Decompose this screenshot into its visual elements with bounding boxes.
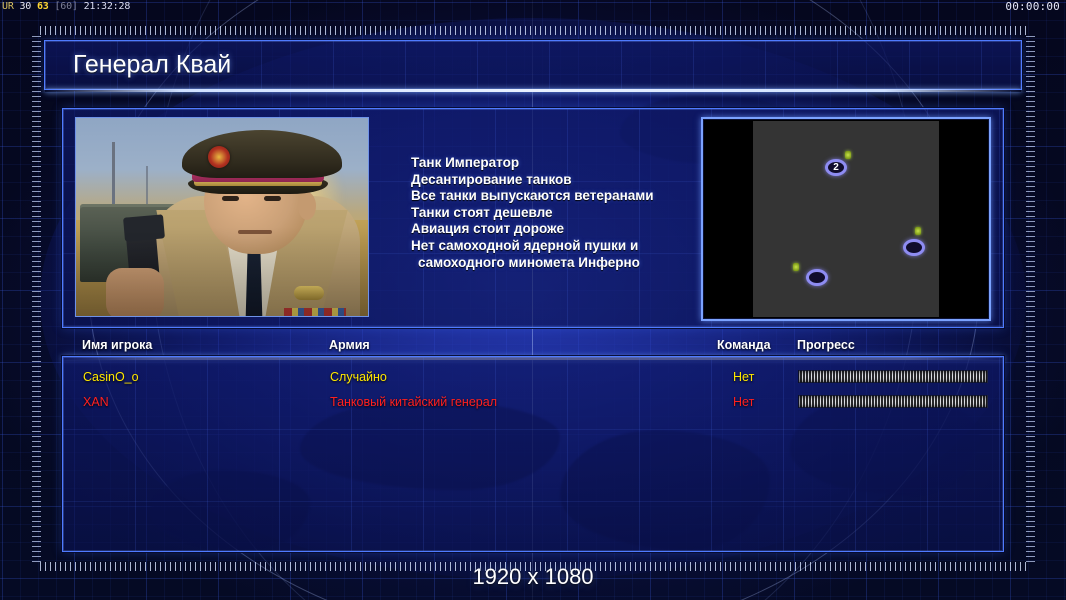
- minimap-supply-dock: [845, 151, 851, 159]
- general-description-line: Нет самоходной ядерной пушки и: [411, 238, 741, 255]
- general-info-panel: Танк ИмператорДесантирование танковВсе т…: [62, 108, 1004, 328]
- header-army: Армия: [329, 338, 370, 352]
- ruler-bottom: [40, 562, 1026, 571]
- player-army: Случайно: [330, 365, 387, 389]
- match-timer: 00:00:00: [1005, 1, 1060, 13]
- general-description-line: Авиация стоит дороже: [411, 221, 741, 238]
- hud-overlay: UR 30 63 [60] 21:32:28 00:00:00: [0, 0, 1066, 15]
- minimap-supply-dock: [793, 263, 799, 271]
- general-description-line: Десантирование танков: [411, 172, 741, 189]
- fps-cap: 63: [37, 1, 49, 12]
- header-player-name: Имя игрока: [82, 338, 152, 352]
- general-description-line: Танки стоят дешевле: [411, 205, 741, 222]
- player-progress-bar: [798, 395, 988, 408]
- table-row[interactable]: XANТанковый китайский генералНет: [63, 390, 1003, 414]
- minimap-start-position[interactable]: [903, 239, 925, 256]
- hud-clock: 21:32:28: [84, 1, 131, 12]
- player-table-header: Имя игрока Армия Команда Прогресс: [62, 338, 1004, 358]
- page-title: Генерал Квай: [73, 51, 231, 80]
- minimap[interactable]: 2: [705, 121, 987, 317]
- fps-label: UR: [2, 1, 14, 12]
- player-progress-bar: [798, 370, 988, 383]
- minimap-start-position[interactable]: 2: [825, 159, 847, 176]
- fps-target: [60]: [54, 1, 77, 12]
- portrait-vignette: [76, 118, 368, 316]
- player-name: CasinO_o: [83, 365, 139, 389]
- ruler-top: [40, 26, 1026, 35]
- minimap-frame: 2: [701, 117, 991, 321]
- general-description-line: самоходного миномета Инферно: [411, 255, 741, 272]
- player-table-panel: CasinO_oСлучайноНетXANТанковый китайский…: [62, 356, 1004, 552]
- player-team: Нет: [733, 390, 754, 414]
- player-name: XAN: [83, 390, 109, 414]
- title-panel: Генерал Квай: [44, 40, 1022, 90]
- minimap-supply-dock: [915, 227, 921, 235]
- fps-value: 30: [19, 1, 31, 12]
- ruler-left: [32, 36, 41, 564]
- header-progress: Прогресс: [797, 338, 855, 352]
- ruler-right: [1026, 36, 1035, 564]
- general-description: Танк ИмператорДесантирование танковВсе т…: [411, 155, 741, 271]
- header-team: Команда: [717, 338, 771, 352]
- general-portrait: [75, 117, 369, 317]
- title-underline: [45, 89, 1021, 92]
- player-team: Нет: [733, 365, 754, 389]
- fps-counter: UR 30 63 [60] 21:32:28: [2, 1, 130, 13]
- resolution-label: 1920 x 1080: [0, 564, 1066, 590]
- player-army: Танковый китайский генерал: [330, 390, 497, 414]
- game-lobby-screen: UR 30 63 [60] 21:32:28 00:00:00 Генерал …: [0, 0, 1066, 600]
- general-description-line: Танк Император: [411, 155, 741, 172]
- table-row[interactable]: CasinO_oСлучайноНет: [63, 365, 1003, 389]
- general-description-line: Все танки выпускаются ветеранами: [411, 188, 741, 205]
- minimap-start-position[interactable]: [806, 269, 828, 286]
